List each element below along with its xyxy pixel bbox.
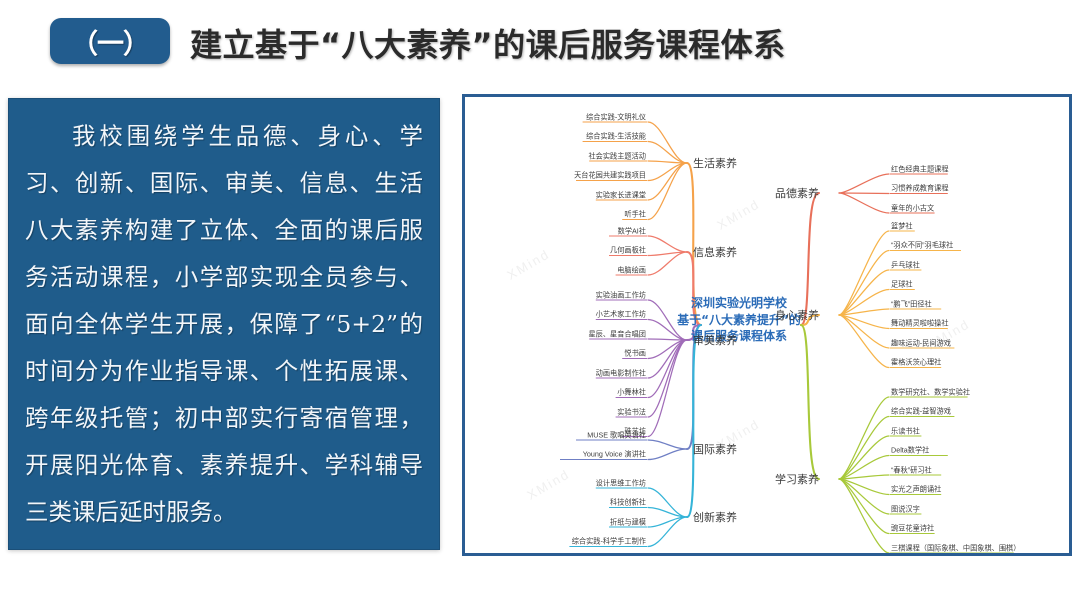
intro-paragraph: 我校围绕学生品德、身心、学习、创新、国际、审美、信息、生活八大素养构建了立体、全… [25, 113, 423, 536]
center-line-2: 课后服务课程体系 [653, 328, 825, 345]
section-number-label: （一） [71, 22, 149, 61]
leaf-right-2-1[interactable]: 综合实践-益智游戏 [891, 407, 951, 416]
branch-label-left-2[interactable]: 审美素养 [693, 332, 737, 348]
intro-panel: 我校围绕学生品德、身心、学习、创新、国际、审美、信息、生活八大素养构建了立体、全… [8, 98, 440, 550]
branch-label-right-1[interactable]: 身心素养 [775, 307, 819, 323]
leaf-right-1-2[interactable]: 乒乓球社 [891, 260, 920, 269]
leaf-left-4-3[interactable]: 综合实践-科学手工制作 [465, 537, 646, 546]
leaf-right-1-0[interactable]: 篮梦社 [891, 221, 913, 230]
leaf-left-0-3[interactable]: 天台花园共建实践项目 [465, 171, 646, 180]
leaf-right-1-7[interactable]: 霍格沃茨心理社 [891, 358, 941, 367]
leaf-right-1-1[interactable]: “羽众不同”羽毛球社 [891, 241, 953, 250]
branch-label-right-0[interactable]: 品德素养 [775, 185, 819, 201]
leaf-right-1-6[interactable]: 趣味运动-民间游戏 [891, 338, 951, 347]
leaf-left-1-2[interactable]: 电脑绘画 [465, 265, 646, 274]
leaf-left-2-2[interactable]: 星辰、星音合唱团 [465, 329, 646, 338]
page-header: （一） 建立基于“八大素养”的课后服务课程体系 [0, 0, 1080, 88]
leaf-left-1-0[interactable]: 数学AI社 [465, 226, 646, 235]
leaf-right-2-7[interactable]: 豌豆花童诗社 [891, 524, 934, 533]
branch-label-left-4[interactable]: 创新素养 [693, 509, 737, 525]
leaf-right-0-0[interactable]: 红色经典主题课程 [891, 164, 949, 173]
leaf-right-1-4[interactable]: “鹏飞”田径社 [891, 299, 932, 308]
leaf-left-2-6[interactable]: 实验书法 [465, 407, 646, 416]
leaf-left-3-0[interactable]: MUSE 歌唱英语社 [465, 430, 646, 439]
leaf-left-0-0[interactable]: 综合实践-文明礼仪 [465, 112, 646, 121]
leaf-left-0-1[interactable]: 综合实践-生活技能 [465, 132, 646, 141]
mindmap-frame: XMind XMind XMind XMind XMind 深圳实验光明学校基于… [462, 94, 1072, 556]
leaf-right-0-1[interactable]: 习惯养成教育课程 [891, 184, 949, 193]
leaf-left-0-2[interactable]: 社会实践主题活动 [465, 151, 646, 160]
branch-label-left-3[interactable]: 国际素养 [693, 441, 737, 457]
branch-label-left-1[interactable]: 信息素养 [693, 244, 737, 260]
section-number-badge: （一） [50, 18, 170, 64]
leaf-left-3-1[interactable]: Young Voice 演讲社 [465, 450, 646, 459]
leaf-left-0-4[interactable]: 实验家长进课堂 [465, 190, 646, 199]
leaf-right-1-5[interactable]: 舞动精灵啦啦操社 [891, 319, 949, 328]
leaf-left-4-0[interactable]: 设计思维工作坊 [465, 478, 646, 487]
leaf-left-0-5[interactable]: 听手社 [465, 210, 646, 219]
leaf-right-0-2[interactable]: 童年的小古文 [891, 203, 934, 212]
branch-label-right-2[interactable]: 学习素养 [775, 471, 819, 487]
leaf-right-2-8[interactable]: 三棋课程（国际象棋、中国象棋、围棋） [891, 543, 1020, 552]
leaf-left-2-4[interactable]: 动画电影制作社 [465, 368, 646, 377]
leaf-left-2-1[interactable]: 小艺术家工作坊 [465, 310, 646, 319]
mindmap-canvas: XMind XMind XMind XMind XMind 深圳实验光明学校基于… [465, 97, 1069, 553]
leaf-left-2-3[interactable]: 悦书画 [465, 349, 646, 358]
leaf-right-2-6[interactable]: 图说汉字 [891, 504, 920, 513]
leaf-left-4-2[interactable]: 折纸与建模 [465, 517, 646, 526]
leaf-left-2-0[interactable]: 实验油画工作坊 [465, 290, 646, 299]
leaf-right-2-4[interactable]: “春秋”研习社 [891, 465, 932, 474]
leaf-left-2-5[interactable]: 小舞林社 [465, 388, 646, 397]
leaf-right-1-3[interactable]: 足球社 [891, 280, 913, 289]
branch-label-left-0[interactable]: 生活素养 [693, 155, 737, 171]
leaf-left-4-1[interactable]: 科技创新社 [465, 498, 646, 507]
page-title: 建立基于“八大素养”的课后服务课程体系 [190, 20, 786, 66]
leaf-right-2-0[interactable]: 数学研究社、数学实验社 [891, 387, 970, 396]
leaf-right-2-5[interactable]: 实光之声朗诵社 [891, 485, 941, 494]
leaf-right-2-2[interactable]: 乐读书社 [891, 426, 920, 435]
leaf-left-1-1[interactable]: 几何画板社 [465, 246, 646, 255]
leaf-right-2-3[interactable]: Delta数学社 [891, 446, 929, 455]
